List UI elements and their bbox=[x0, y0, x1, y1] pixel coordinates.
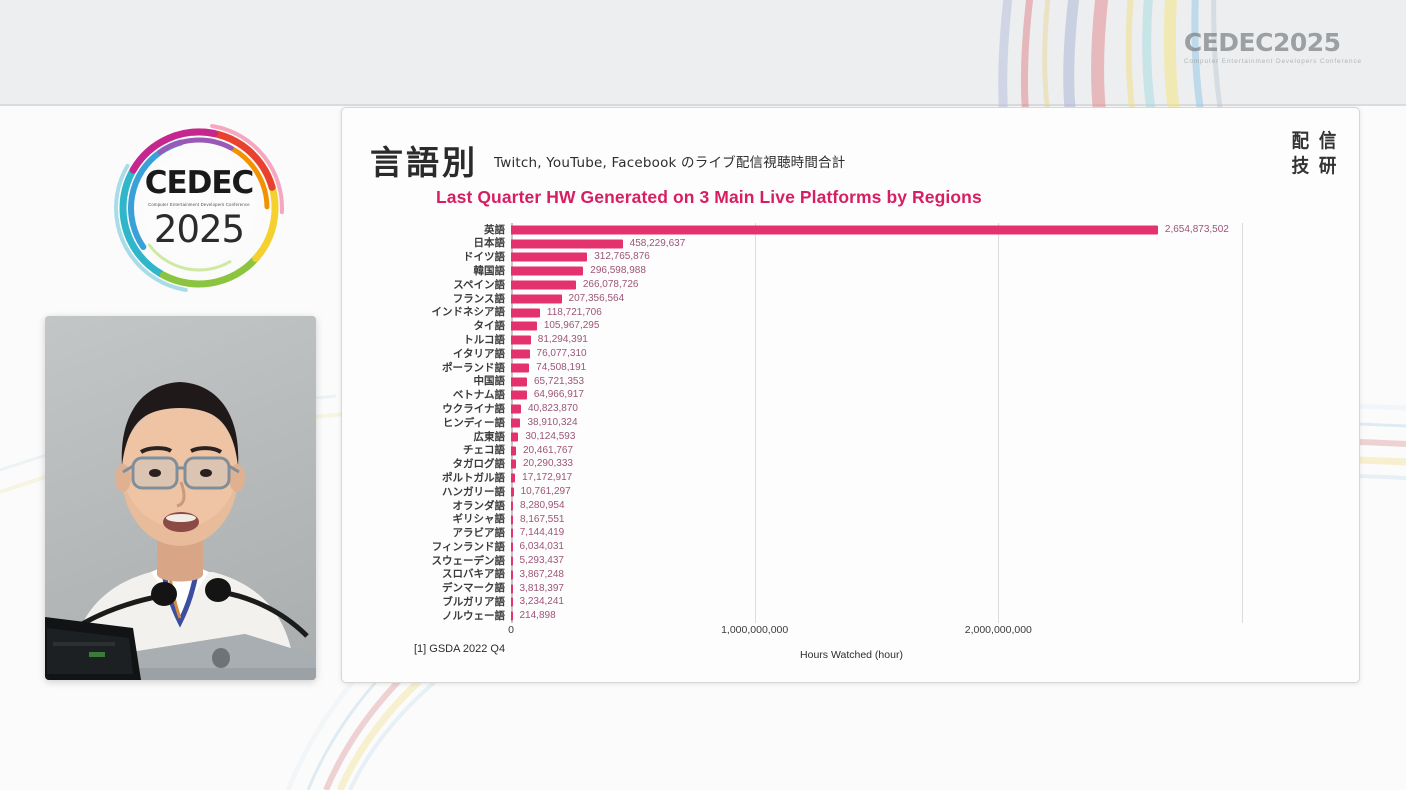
cedec-logo: CEDEC Computer Entertainment Developers … bbox=[113, 122, 285, 294]
bar-value-label: 312,765,876 bbox=[594, 252, 650, 262]
bar-value-label: 17,172,917 bbox=[522, 473, 572, 483]
bar-value-label: 3,818,397 bbox=[520, 584, 565, 594]
chart-bar-rows: 英語2,654,873,502日本語458,229,637ドイツ語312,765… bbox=[511, 223, 1242, 623]
category-label: ポルトガル語 bbox=[442, 473, 505, 484]
chart-bar bbox=[511, 446, 516, 455]
haishin-giken-logo: 配 信 技 研 bbox=[1287, 130, 1340, 178]
header-band-divider bbox=[0, 104, 1406, 106]
slide-title: 言語別 bbox=[370, 136, 478, 184]
speaker-video[interactable] bbox=[45, 316, 316, 680]
chart-bar-row: 韓国語296,598,988 bbox=[511, 264, 1242, 278]
bar-value-label: 74,508,191 bbox=[536, 363, 586, 373]
bar-value-label: 458,229,637 bbox=[630, 239, 686, 249]
chart-bar bbox=[511, 253, 587, 262]
chart-bar-row: インドネシア語118,721,706 bbox=[511, 306, 1242, 320]
speaker-figure-graphic bbox=[45, 316, 316, 680]
chart-bar bbox=[511, 543, 513, 552]
gridline bbox=[1242, 223, 1243, 623]
cedec-logo-year: 2025 bbox=[154, 211, 244, 248]
chart-bar-row: ブルガリア語3,234,241 bbox=[511, 595, 1242, 609]
chart-bar bbox=[511, 363, 529, 372]
bar-value-label: 76,077,310 bbox=[537, 349, 587, 359]
chart-bar-row: オランダ語8,280,954 bbox=[511, 499, 1242, 513]
chart-bar bbox=[511, 308, 540, 317]
chart-bar-row: アラビア語7,144,419 bbox=[511, 526, 1242, 540]
bar-value-label: 10,761,297 bbox=[521, 487, 571, 497]
chart-bar-row: ヒンディー語38,910,324 bbox=[511, 416, 1242, 430]
chart-bar-row: ウクライナ語40,823,870 bbox=[511, 402, 1242, 416]
chart-bar-row: 広東語30,124,593 bbox=[511, 430, 1242, 444]
category-label: ノルウェー語 bbox=[442, 611, 505, 622]
slide-subtitle: Twitch, YouTube, Facebook のライブ配信視聴時間合計 bbox=[494, 151, 845, 171]
bar-value-label: 7,144,419 bbox=[520, 528, 565, 538]
category-label: ヒンディー語 bbox=[443, 418, 505, 429]
bar-value-label: 5,293,437 bbox=[520, 556, 565, 566]
chart-bar-row: ポーランド語74,508,191 bbox=[511, 361, 1242, 375]
slide-card: 言語別 Twitch, YouTube, Facebook のライブ配信視聴時間… bbox=[341, 107, 1360, 683]
chart-bar bbox=[511, 612, 513, 621]
chart-bar-row: ドイツ語312,765,876 bbox=[511, 251, 1242, 265]
chart-bar bbox=[511, 225, 1158, 234]
chart-bar bbox=[511, 281, 576, 290]
chart-bar-row: スペイン語266,078,726 bbox=[511, 278, 1242, 292]
chart-bar bbox=[511, 322, 537, 331]
chart-bar-row: フィンランド語6,034,031 bbox=[511, 540, 1242, 554]
bar-value-label: 266,078,726 bbox=[583, 280, 639, 290]
category-label: デンマーク語 bbox=[442, 583, 505, 594]
bar-value-label: 20,290,333 bbox=[523, 459, 573, 469]
stamp-char-4: 研 bbox=[1314, 155, 1340, 179]
chart-bar bbox=[511, 570, 513, 579]
bar-value-label: 20,461,767 bbox=[523, 446, 573, 456]
category-label: チェコ語 bbox=[463, 445, 505, 456]
category-label: トルコ語 bbox=[463, 335, 505, 346]
bar-value-label: 8,167,551 bbox=[520, 515, 565, 525]
chart-bar-row: トルコ語81,294,391 bbox=[511, 333, 1242, 347]
bar-value-label: 105,967,295 bbox=[544, 321, 600, 331]
chart-bar-row: スウェーデン語5,293,437 bbox=[511, 554, 1242, 568]
x-tick-label: 2,000,000,000 bbox=[965, 624, 1032, 636]
bar-value-label: 3,234,241 bbox=[520, 597, 565, 607]
chart-bar bbox=[511, 391, 527, 400]
bar-value-label: 40,823,870 bbox=[528, 404, 578, 414]
bar-value-label: 64,966,917 bbox=[534, 390, 584, 400]
chart-bar bbox=[511, 501, 513, 510]
chart-bar-row: タガログ語20,290,333 bbox=[511, 457, 1242, 471]
bar-value-label: 30,124,593 bbox=[525, 432, 575, 442]
category-label: 韓国語 bbox=[474, 266, 506, 277]
chart-bar bbox=[511, 556, 513, 565]
bar-value-label: 214,898 bbox=[520, 611, 556, 621]
presentation-screen: CEDEC2025 Computer Entertainment Develop… bbox=[0, 0, 1406, 790]
bar-value-label: 207,356,564 bbox=[569, 294, 625, 304]
chart-bar bbox=[511, 515, 513, 524]
chart-title: Last Quarter HW Generated on 3 Main Live… bbox=[436, 187, 982, 208]
cedec-wordmark-tagline: Computer Entertainment Developers Confer… bbox=[1184, 58, 1362, 65]
chart-bar-row: チェコ語20,461,767 bbox=[511, 444, 1242, 458]
chart-bar bbox=[511, 418, 520, 427]
chart-bar bbox=[511, 432, 518, 441]
chart-bar-row: デンマーク語3,818,397 bbox=[511, 582, 1242, 596]
chart-bar bbox=[511, 598, 513, 607]
bar-value-label: 38,910,324 bbox=[527, 418, 577, 428]
chart-bar-row: イタリア語76,077,310 bbox=[511, 347, 1242, 361]
chart-bar bbox=[511, 294, 562, 303]
x-tick-label: 0 bbox=[508, 624, 514, 636]
bar-value-label: 65,721,353 bbox=[534, 377, 584, 387]
category-label: スロバキア語 bbox=[442, 569, 505, 580]
x-tick-label: 1,000,000,000 bbox=[721, 624, 788, 636]
category-label: フィンランド語 bbox=[432, 542, 505, 553]
cedec-wordmark-text: CEDEC2025 bbox=[1184, 30, 1362, 55]
bar-value-label: 3,867,248 bbox=[520, 570, 565, 580]
category-label: スウェーデン語 bbox=[432, 556, 506, 567]
bar-value-label: 118,721,706 bbox=[547, 308, 602, 318]
cedec-logo-tagline: Computer Entertainment Developers Confer… bbox=[148, 202, 250, 207]
bar-value-label: 81,294,391 bbox=[538, 335, 588, 345]
cedec-wordmark-topright: CEDEC2025 Computer Entertainment Develop… bbox=[1184, 30, 1362, 65]
category-label: ブルガリア語 bbox=[442, 597, 505, 608]
chart-bar-row: ポルトガル語17,172,917 bbox=[511, 471, 1242, 485]
bar-chart: 英語2,654,873,502日本語458,229,637ドイツ語312,765… bbox=[342, 216, 1360, 683]
category-label: ハンガリー語 bbox=[442, 487, 505, 498]
category-label: 日本語 bbox=[474, 238, 506, 249]
chart-bar bbox=[511, 239, 623, 248]
chart-bar bbox=[511, 474, 515, 483]
category-label: ドイツ語 bbox=[463, 252, 505, 263]
cedec-logo-text: CEDEC bbox=[145, 168, 254, 199]
category-label: スペイン語 bbox=[453, 280, 505, 291]
bar-value-label: 296,598,988 bbox=[590, 266, 646, 276]
chart-bar-row: 日本語458,229,637 bbox=[511, 237, 1242, 251]
bar-value-label: 8,280,954 bbox=[520, 501, 565, 511]
chart-bar-row: 英語2,654,873,502 bbox=[511, 223, 1242, 237]
chart-bar bbox=[511, 336, 531, 345]
category-label: アラビア語 bbox=[453, 528, 506, 539]
stamp-char-3: 技 bbox=[1287, 155, 1313, 179]
chart-footnote: [1] GSDA 2022 Q4 bbox=[414, 643, 505, 655]
category-label: ベトナム語 bbox=[453, 390, 505, 401]
chart-plot-area: 英語2,654,873,502日本語458,229,637ドイツ語312,765… bbox=[511, 223, 1242, 623]
category-label: ポーランド語 bbox=[442, 363, 505, 374]
category-label: インドネシア語 bbox=[432, 307, 506, 318]
chart-bar-row: スロバキア語3,867,248 bbox=[511, 568, 1242, 582]
chart-bar bbox=[511, 460, 516, 469]
chart-bar-row: タイ語105,967,295 bbox=[511, 320, 1242, 334]
chart-bar-row: ベトナム語64,966,917 bbox=[511, 389, 1242, 403]
chart-bar bbox=[511, 529, 513, 538]
chart-bar-row: ノルウェー語214,898 bbox=[511, 609, 1242, 623]
category-label: 中国語 bbox=[474, 376, 506, 387]
bar-value-label: 2,654,873,502 bbox=[1165, 225, 1229, 235]
chart-bar bbox=[511, 267, 583, 276]
category-label: タガログ語 bbox=[453, 459, 506, 470]
category-label: オランダ語 bbox=[453, 501, 506, 512]
chart-bar-row: フランス語207,356,564 bbox=[511, 292, 1242, 306]
chart-bar-row: ギリシャ語8,167,551 bbox=[511, 513, 1242, 527]
category-label: タイ語 bbox=[474, 321, 506, 332]
chart-bar-row: 中国語65,721,353 bbox=[511, 375, 1242, 389]
chart-bar bbox=[511, 350, 530, 359]
chart-bar-row: ハンガリー語10,761,297 bbox=[511, 485, 1242, 499]
chart-bar bbox=[511, 377, 527, 386]
chart-bar bbox=[511, 584, 513, 593]
category-label: ギリシャ語 bbox=[453, 514, 506, 525]
category-label: イタリア語 bbox=[453, 349, 505, 360]
chart-bar bbox=[511, 487, 514, 496]
stamp-char-2: 信 bbox=[1314, 130, 1340, 154]
category-label: ウクライナ語 bbox=[442, 404, 505, 415]
chart-bar bbox=[511, 405, 521, 414]
category-label: フランス語 bbox=[453, 294, 505, 305]
bar-value-label: 6,034,031 bbox=[520, 542, 565, 552]
category-label: 広東語 bbox=[474, 432, 506, 443]
stamp-char-1: 配 bbox=[1287, 130, 1313, 154]
category-label: 英語 bbox=[484, 225, 505, 236]
